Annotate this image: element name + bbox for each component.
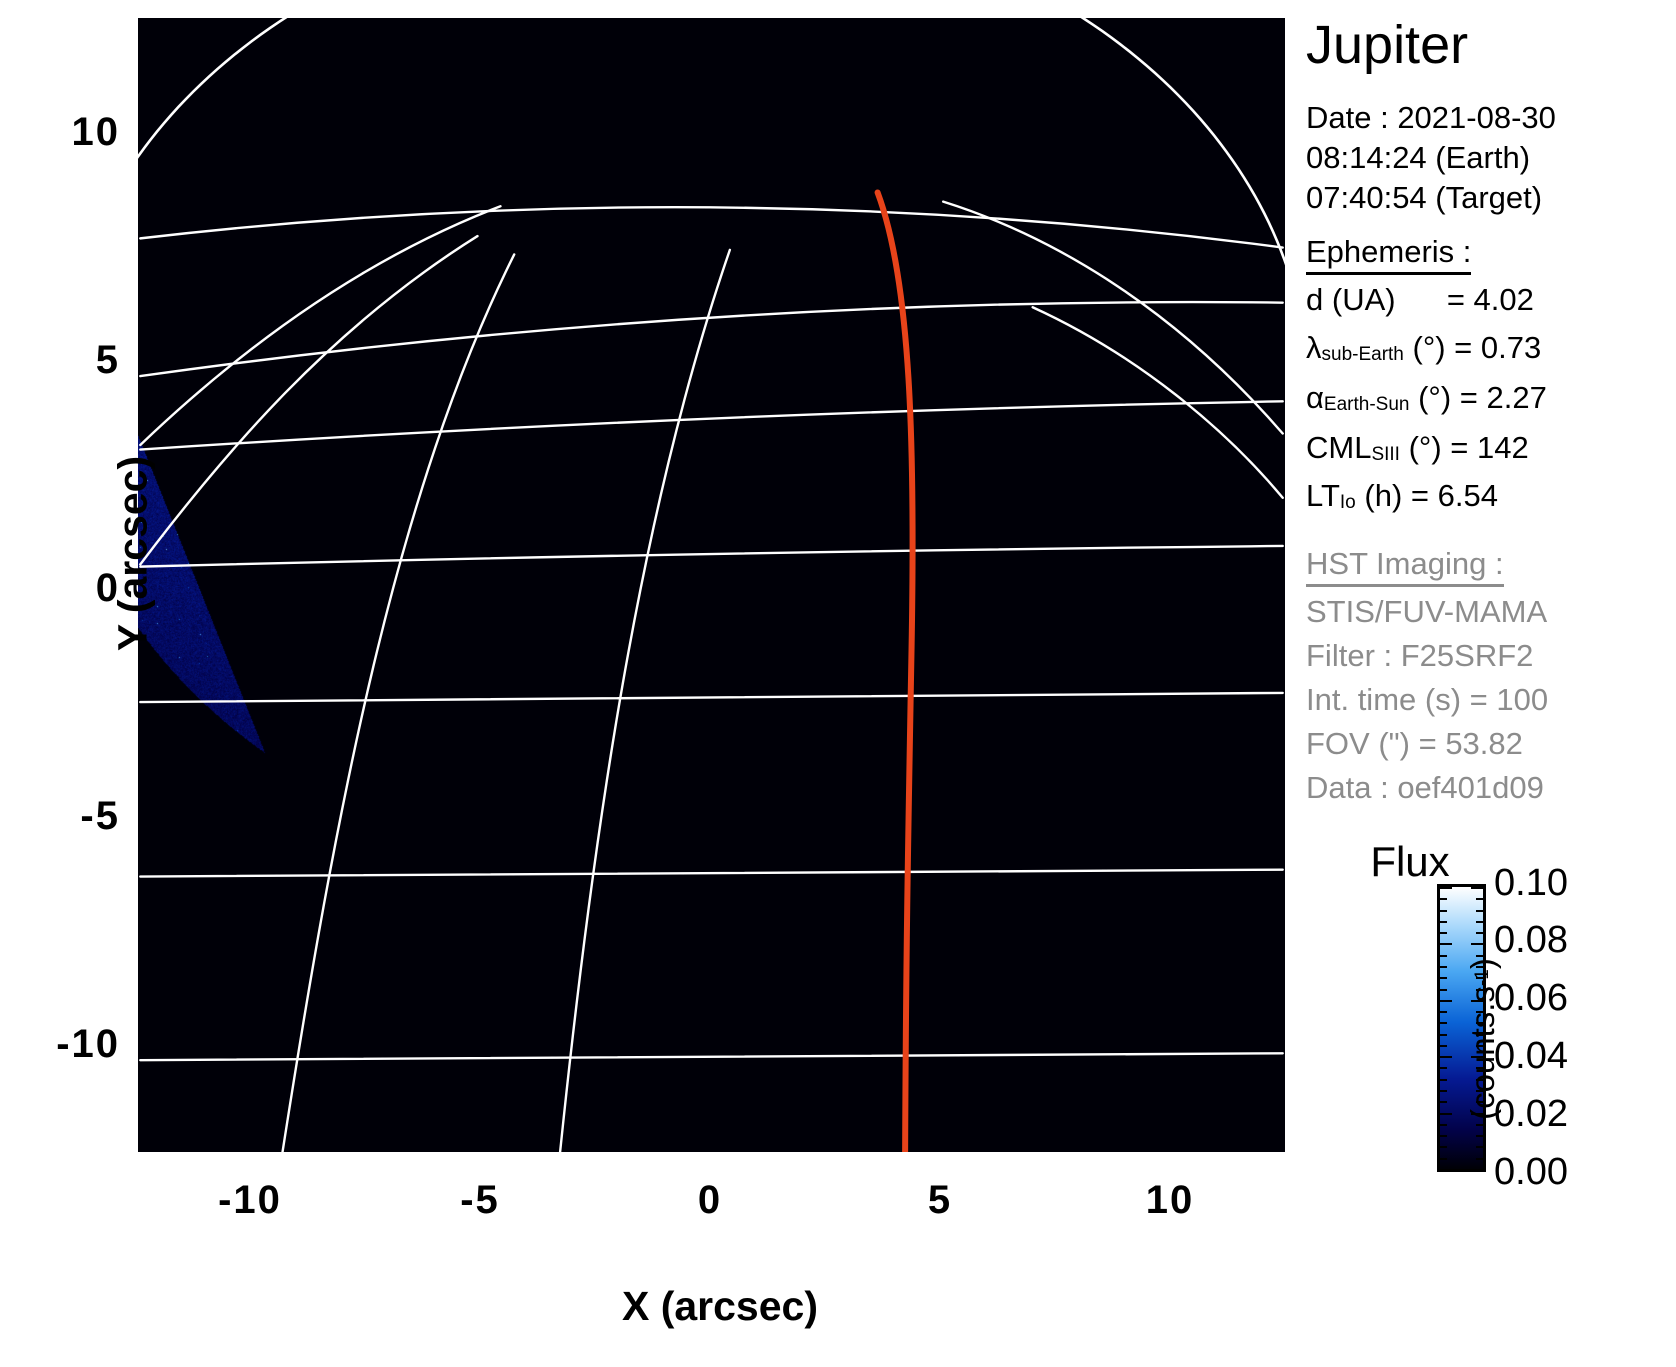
ephemeris-lambda-subscript: sub-Earth <box>1322 344 1404 365</box>
x-tick-0: 0 <box>650 1178 770 1223</box>
ephemeris-row-lambda: λsub-Earth (°) = 0.73 <box>1306 330 1541 366</box>
ephemeris-heading: Ephemeris : <box>1306 234 1471 270</box>
ephemeris-cml-symbol: CML <box>1306 430 1371 465</box>
ephemeris-cml-subscript: SIII <box>1371 444 1400 465</box>
x-tick--10: -10 <box>190 1178 310 1223</box>
ephemeris-row-lt: LTIo (h) = 6.54 <box>1306 478 1498 514</box>
hst-imaging-heading: HST Imaging : <box>1306 546 1504 582</box>
ephemeris-d-symbol: d <box>1306 282 1323 317</box>
y-tick-5: 5 <box>10 338 120 383</box>
figure-root: 10 5 0 -5 -10 Y (arcsec) -10 -5 0 5 10 X… <box>0 0 1676 1367</box>
observation-time-earth: 08:14:24 (Earth) <box>1306 140 1530 176</box>
colorbar-tick-004: 0.04 <box>1494 1035 1568 1078</box>
hst-instrument: STIS/FUV-MAMA <box>1306 594 1547 630</box>
x-tick--5: -5 <box>420 1178 540 1223</box>
colorbar-tick-008: 0.08 <box>1494 919 1568 962</box>
ephemeris-row-cml: CMLSIII (°) = 142 <box>1306 430 1529 466</box>
y-axis-label: Y (arcsec) <box>110 389 157 719</box>
ephemeris-row-d: d (UA) = 4.02 <box>1306 282 1534 318</box>
ephemeris-lt-subscript: Io <box>1340 492 1356 513</box>
ephemeris-alpha-subscript: Earth-Sun <box>1324 394 1410 415</box>
colorbar-tick-010: 0.10 <box>1494 862 1568 905</box>
x-tick-10: 10 <box>1110 1178 1230 1223</box>
page-title: Jupiter <box>1306 14 1468 76</box>
ephemeris-alpha-symbol: α <box>1306 380 1324 415</box>
y-tick-10: 10 <box>10 110 120 155</box>
hst-fov: FOV (") = 53.82 <box>1306 726 1523 762</box>
colorbar-unit-text: (counts.s <box>1464 986 1501 1120</box>
y-tick--10: -10 <box>10 1022 120 1067</box>
ephemeris-d-value: = 4.02 <box>1447 282 1534 317</box>
y-tick-0: 0 <box>10 566 120 611</box>
ephemeris-cml-value: = 142 <box>1450 430 1528 465</box>
hst-filter: Filter : F25SRF2 <box>1306 638 1533 674</box>
colorbar-tick-002: 0.02 <box>1494 1093 1568 1136</box>
colorbar-unit-label: (counts.s-1) <box>1464 874 1502 1204</box>
ephemeris-lambda-unit: (°) <box>1413 330 1446 365</box>
planetographic-grid-overlay <box>138 18 1285 1152</box>
colorbar-unit-exponent: -1 <box>1472 969 1493 986</box>
ephemeris-lambda-symbol: λ <box>1306 330 1322 365</box>
x-axis-label: X (arcsec) <box>540 1283 900 1330</box>
ephemeris-lt-unit: (h) <box>1364 478 1402 513</box>
ephemeris-alpha-unit: (°) <box>1418 380 1451 415</box>
observation-date: Date : 2021-08-30 <box>1306 100 1556 136</box>
ephemeris-cml-unit: (°) <box>1409 430 1442 465</box>
ephemeris-alpha-value: = 2.27 <box>1460 380 1547 415</box>
ephemeris-d-unit: (UA) <box>1332 282 1396 317</box>
ephemeris-lt-value: = 6.54 <box>1411 478 1498 513</box>
hst-data-id: Data : oef401d09 <box>1306 770 1544 806</box>
ephemeris-lt-symbol: LT <box>1306 478 1340 513</box>
observation-time-target: 07:40:54 (Target) <box>1306 180 1542 216</box>
x-tick-5: 5 <box>880 1178 1000 1223</box>
ephemeris-lambda-value: = 0.73 <box>1454 330 1541 365</box>
colorbar-unit-paren: ) <box>1464 958 1501 969</box>
colorbar-tick-000: 0.00 <box>1494 1151 1568 1194</box>
colorbar-tick-006: 0.06 <box>1494 977 1568 1020</box>
jupiter-fuv-image <box>138 18 1285 1152</box>
y-tick--5: -5 <box>10 794 120 839</box>
hst-int-time: Int. time (s) = 100 <box>1306 682 1548 718</box>
ephemeris-row-alpha: αEarth-Sun (°) = 2.27 <box>1306 380 1547 416</box>
